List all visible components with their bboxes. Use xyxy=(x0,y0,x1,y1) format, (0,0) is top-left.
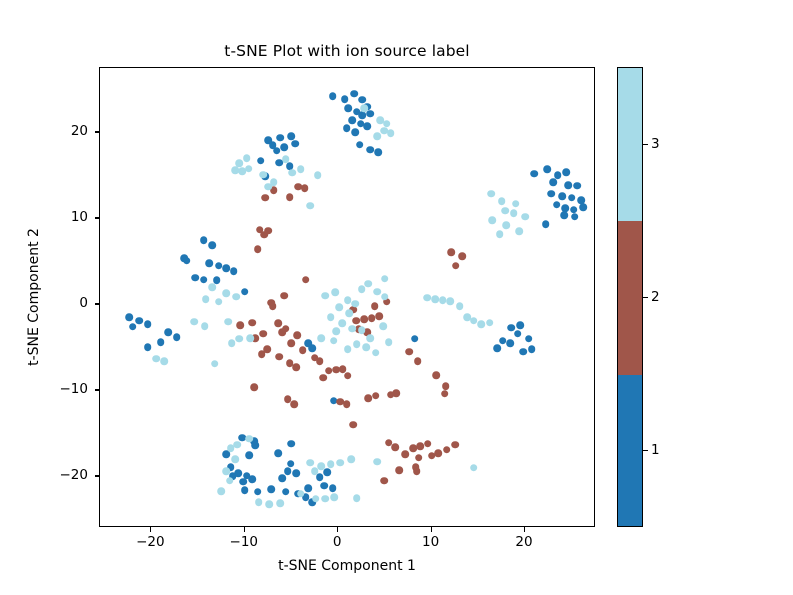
scatter-point xyxy=(345,105,353,113)
scatter-point xyxy=(375,148,383,156)
scatter-point xyxy=(227,444,235,452)
scatter-point xyxy=(503,222,511,230)
scatter-point xyxy=(531,170,539,178)
y-axis-tick xyxy=(95,389,100,390)
scatter-point xyxy=(228,339,236,347)
scatter-point xyxy=(264,183,272,191)
scatter-point xyxy=(434,449,442,457)
scatter-point xyxy=(519,348,527,356)
colorbar-segment xyxy=(618,375,642,527)
scatter-point xyxy=(301,185,309,193)
scatter-point xyxy=(247,334,255,342)
scatter-point xyxy=(417,443,425,451)
scatter-point xyxy=(496,230,504,238)
scatter-point xyxy=(489,216,497,224)
scatter-point xyxy=(144,320,152,328)
scatter-point xyxy=(236,321,244,329)
scatter-point xyxy=(391,443,399,451)
scatter-point xyxy=(351,129,359,137)
scatter-point xyxy=(411,335,419,343)
scatter-point xyxy=(316,357,324,365)
scatter-point xyxy=(559,192,567,200)
page-title: t-SNE Plot with ion source label xyxy=(99,42,595,60)
scatter-point xyxy=(333,327,341,335)
scatter-point xyxy=(205,259,213,267)
scatter-point xyxy=(351,300,359,308)
y-axis-tick-label: 0 xyxy=(79,295,88,311)
scatter-point xyxy=(544,166,552,174)
scatter-point xyxy=(293,332,301,340)
scatter-point xyxy=(276,353,284,361)
scatter-point xyxy=(183,257,191,265)
scatter-point xyxy=(385,338,393,346)
scatter-point xyxy=(356,141,364,149)
scatter-point xyxy=(352,317,360,325)
scatter-point xyxy=(374,458,382,466)
scatter-point xyxy=(415,454,423,462)
colorbar-segment xyxy=(618,68,642,221)
scatter-point xyxy=(387,130,395,138)
scatter-point xyxy=(493,345,501,353)
y-axis-tick xyxy=(95,475,100,476)
colorbar-tick-label: 1 xyxy=(651,442,660,458)
scatter-point xyxy=(568,194,576,202)
scatter-point xyxy=(506,339,514,347)
scatter-point xyxy=(251,442,259,450)
x-axis-label: t-SNE Component 1 xyxy=(99,558,595,574)
scatter-point xyxy=(502,207,510,215)
scatter-point xyxy=(553,201,561,209)
scatter-point xyxy=(358,326,366,334)
y-axis-tick-label: 10 xyxy=(71,209,88,225)
scatter-point xyxy=(288,132,296,140)
y-axis-tick-label: 20 xyxy=(71,123,88,139)
scatter-point xyxy=(260,330,268,338)
scatter-point xyxy=(269,302,277,310)
scatter-point xyxy=(289,169,297,177)
scatter-point xyxy=(372,392,380,400)
scatter-point xyxy=(366,146,374,154)
scatter-point xyxy=(447,248,455,256)
scatter-point xyxy=(336,459,344,467)
scatter-point xyxy=(235,335,243,343)
scatter-point xyxy=(525,335,533,343)
scatter-point xyxy=(275,320,283,328)
scatter-point xyxy=(459,253,467,261)
scatter-point xyxy=(562,168,570,176)
scatter-point xyxy=(306,459,314,467)
scatter-point xyxy=(350,90,358,98)
scatter-point xyxy=(346,309,354,317)
scatter-point xyxy=(292,469,300,477)
scatter-point xyxy=(456,302,464,310)
x-axis-tick-label: −20 xyxy=(136,534,165,550)
y-axis-tick xyxy=(95,303,100,304)
scatter-point xyxy=(341,95,349,103)
scatter-point xyxy=(288,440,296,448)
scatter-point xyxy=(262,194,270,202)
y-axis-tick-label: −20 xyxy=(60,467,89,483)
scatter-point xyxy=(320,482,328,490)
scatter-point xyxy=(215,262,223,270)
scatter-point xyxy=(528,345,536,353)
scatter-point xyxy=(211,360,219,368)
scatter-point xyxy=(224,318,232,326)
scatter-plot-axes xyxy=(99,67,595,527)
scatter-point xyxy=(222,289,230,297)
scatter-point xyxy=(314,172,322,180)
colorbar-tick xyxy=(643,297,648,298)
scatter-point xyxy=(424,440,432,448)
scatter-point xyxy=(325,367,333,375)
scatter-point xyxy=(470,317,478,325)
scatter-point xyxy=(292,363,300,371)
scatter-point xyxy=(321,495,329,503)
scatter-point xyxy=(238,167,246,175)
scatter-point xyxy=(218,487,226,495)
scatter-point xyxy=(361,315,369,323)
scatter-point xyxy=(452,262,460,270)
scatter-point xyxy=(144,344,152,352)
scatter-point xyxy=(375,313,383,321)
scatter-point xyxy=(318,334,326,342)
scatter-point xyxy=(353,340,361,348)
scatter-point xyxy=(381,293,389,301)
x-axis-tick-label: 10 xyxy=(422,534,439,550)
scatter-point xyxy=(234,441,242,449)
scatter-point xyxy=(319,374,327,382)
scatter-point xyxy=(395,467,403,475)
scatter-point xyxy=(135,317,143,325)
scatter-point xyxy=(280,292,288,300)
scatter-point xyxy=(332,289,340,297)
scatter-point xyxy=(498,197,506,205)
scatter-point xyxy=(347,455,355,463)
scatter-point xyxy=(486,319,494,327)
scatter-point xyxy=(200,276,208,284)
scatter-point xyxy=(363,123,371,131)
scatter-point xyxy=(254,246,262,254)
scatter-point xyxy=(361,105,369,113)
scatter-point xyxy=(297,490,305,498)
colorbar-tick xyxy=(643,144,648,145)
scatter-point xyxy=(226,477,234,485)
scatter-point xyxy=(278,474,286,482)
scatter-point xyxy=(250,383,258,391)
scatter-point xyxy=(215,298,223,306)
x-axis-tick xyxy=(150,527,151,532)
scatter-point xyxy=(579,203,587,211)
scatter-point xyxy=(441,390,449,398)
scatter-point xyxy=(233,293,241,301)
scatter-point xyxy=(312,495,320,503)
scatter-point xyxy=(423,294,431,302)
scatter-point xyxy=(287,460,295,468)
colorbar-tick-label: 3 xyxy=(651,136,660,152)
scatter-point xyxy=(248,319,256,327)
colorbar xyxy=(617,67,643,527)
x-axis-tick xyxy=(431,527,432,532)
scatter-point xyxy=(380,477,388,485)
scatter-point xyxy=(359,111,367,119)
scatter-point xyxy=(371,302,379,310)
scatter-point xyxy=(344,296,352,304)
scatter-point xyxy=(208,241,216,249)
scatter-point xyxy=(173,333,181,341)
scatter-point xyxy=(432,295,440,303)
scatter-point xyxy=(261,231,269,239)
figure-canvas: t-SNE Plot with ion source label t-SNE C… xyxy=(0,0,793,595)
y-axis-tick-label: −10 xyxy=(60,381,89,397)
colorbar-segment xyxy=(618,221,642,374)
scatter-point xyxy=(201,322,209,330)
scatter-point xyxy=(477,320,485,328)
scatter-point xyxy=(254,488,262,496)
scatter-point xyxy=(267,486,275,494)
x-axis-tick-label: 20 xyxy=(515,534,532,550)
scatter-point xyxy=(348,325,356,333)
scatter-point xyxy=(432,371,440,379)
scatter-point xyxy=(248,475,256,483)
colorbar-tick-label: 2 xyxy=(651,289,660,305)
scatter-point xyxy=(276,499,284,507)
scatter-point xyxy=(308,345,316,353)
scatter-point xyxy=(514,330,522,338)
scatter-point xyxy=(265,500,273,508)
scatter-point xyxy=(241,288,249,296)
scatter-point xyxy=(364,280,372,288)
scatter-point xyxy=(306,202,314,210)
scatter-point xyxy=(284,467,292,475)
scatter-point xyxy=(302,276,310,284)
scatter-point xyxy=(291,140,299,148)
scatter-point xyxy=(549,179,557,187)
scatter-point xyxy=(329,485,337,493)
scatter-point xyxy=(510,210,518,218)
scatter-point xyxy=(335,303,343,311)
scatter-point xyxy=(282,155,290,163)
x-axis-tick-label: −10 xyxy=(230,534,259,550)
scatter-point xyxy=(191,274,199,282)
scatter-point xyxy=(161,357,169,365)
colorbar-tick xyxy=(643,450,648,451)
scatter-point xyxy=(329,93,337,101)
scatter-point xyxy=(409,444,417,452)
scatter-point xyxy=(232,167,240,175)
scatter-point xyxy=(297,166,305,174)
scatter-point xyxy=(241,486,249,494)
scatter-point xyxy=(366,334,374,342)
scatter-point xyxy=(521,213,529,221)
scatter-point xyxy=(246,451,254,459)
scatter-point xyxy=(413,467,421,475)
scatter-point xyxy=(442,382,450,390)
scatter-point xyxy=(571,213,579,221)
scatter-point xyxy=(348,117,356,125)
scatter-point xyxy=(200,236,208,244)
scatter-point xyxy=(374,132,382,140)
x-axis-tick xyxy=(337,527,338,532)
scatter-point xyxy=(379,322,387,330)
scatter-point xyxy=(299,346,307,354)
scatter-point xyxy=(344,372,352,380)
scatter-point xyxy=(374,288,382,296)
scatter-point xyxy=(443,446,451,454)
scatter-point xyxy=(327,461,335,469)
scatter-point xyxy=(239,478,247,486)
scatter-point xyxy=(152,355,160,363)
scatter-point xyxy=(372,349,380,357)
scatter-point xyxy=(157,338,165,346)
scatter-point xyxy=(451,441,459,449)
scatter-point xyxy=(280,143,288,151)
x-axis-tick xyxy=(524,527,525,532)
scatter-point xyxy=(344,345,352,353)
scatter-point xyxy=(353,494,361,502)
scatter-point xyxy=(516,228,524,236)
scatter-point xyxy=(392,389,400,397)
scatter-point xyxy=(255,498,263,506)
scatter-point xyxy=(402,450,410,458)
scatter-point xyxy=(232,455,240,463)
scatter-point xyxy=(331,493,339,501)
scatter-point xyxy=(439,296,447,304)
scatter-point xyxy=(243,154,251,162)
scatter-point xyxy=(278,328,286,336)
scatter-point xyxy=(260,171,268,179)
scatter-point xyxy=(414,357,422,365)
scatter-point xyxy=(368,314,376,322)
scatter-point xyxy=(275,449,283,457)
scatter-point xyxy=(282,488,290,496)
scatter-point xyxy=(362,344,370,352)
scatter-point xyxy=(276,134,284,142)
scatter-point xyxy=(499,337,507,345)
scatter-point xyxy=(343,124,351,132)
y-axis-label: t-SNE Component 2 xyxy=(26,228,42,366)
scatter-point xyxy=(202,295,210,303)
y-axis-tick xyxy=(95,217,100,218)
x-axis-tick xyxy=(244,527,245,532)
scatter-point xyxy=(512,200,520,208)
x-axis-tick-label: 0 xyxy=(333,534,342,550)
scatter-point xyxy=(349,421,357,429)
scatter-point xyxy=(222,467,230,475)
scatter-point xyxy=(288,339,296,347)
scatter-point xyxy=(338,320,346,328)
scatter-point xyxy=(305,485,313,493)
scatter-point xyxy=(321,292,329,300)
scatter-point xyxy=(323,468,331,476)
scatter-point xyxy=(125,314,133,322)
scatter-point xyxy=(208,283,216,291)
scatter-point xyxy=(488,190,496,198)
scatter-point xyxy=(318,462,326,470)
scatter-point xyxy=(164,328,172,336)
scatter-point xyxy=(257,157,265,165)
scatter-point xyxy=(327,314,335,322)
scatter-point xyxy=(230,267,238,275)
scatter-point xyxy=(246,435,254,443)
scatter-point xyxy=(258,351,266,359)
scatter-point xyxy=(405,348,413,356)
scatter-point xyxy=(446,297,454,305)
scatter-point xyxy=(470,464,478,472)
scatter-point xyxy=(574,182,582,190)
scatter-point xyxy=(517,321,525,329)
scatter-point xyxy=(542,221,550,229)
scatter-point xyxy=(364,394,372,402)
scatter-point xyxy=(245,165,253,173)
scatter-point xyxy=(560,211,568,219)
scatter-point xyxy=(564,181,572,189)
y-axis-tick xyxy=(95,131,100,132)
scatter-point xyxy=(129,323,137,331)
scatter-point xyxy=(343,400,351,408)
scatter-point xyxy=(330,337,338,345)
scatter-point xyxy=(381,275,389,283)
scatter-point xyxy=(273,147,281,155)
scatter-point xyxy=(191,318,199,326)
scatter-point xyxy=(547,190,555,198)
scatter-point xyxy=(290,400,298,408)
scatter-point xyxy=(222,265,230,273)
scatter-point xyxy=(286,193,294,201)
